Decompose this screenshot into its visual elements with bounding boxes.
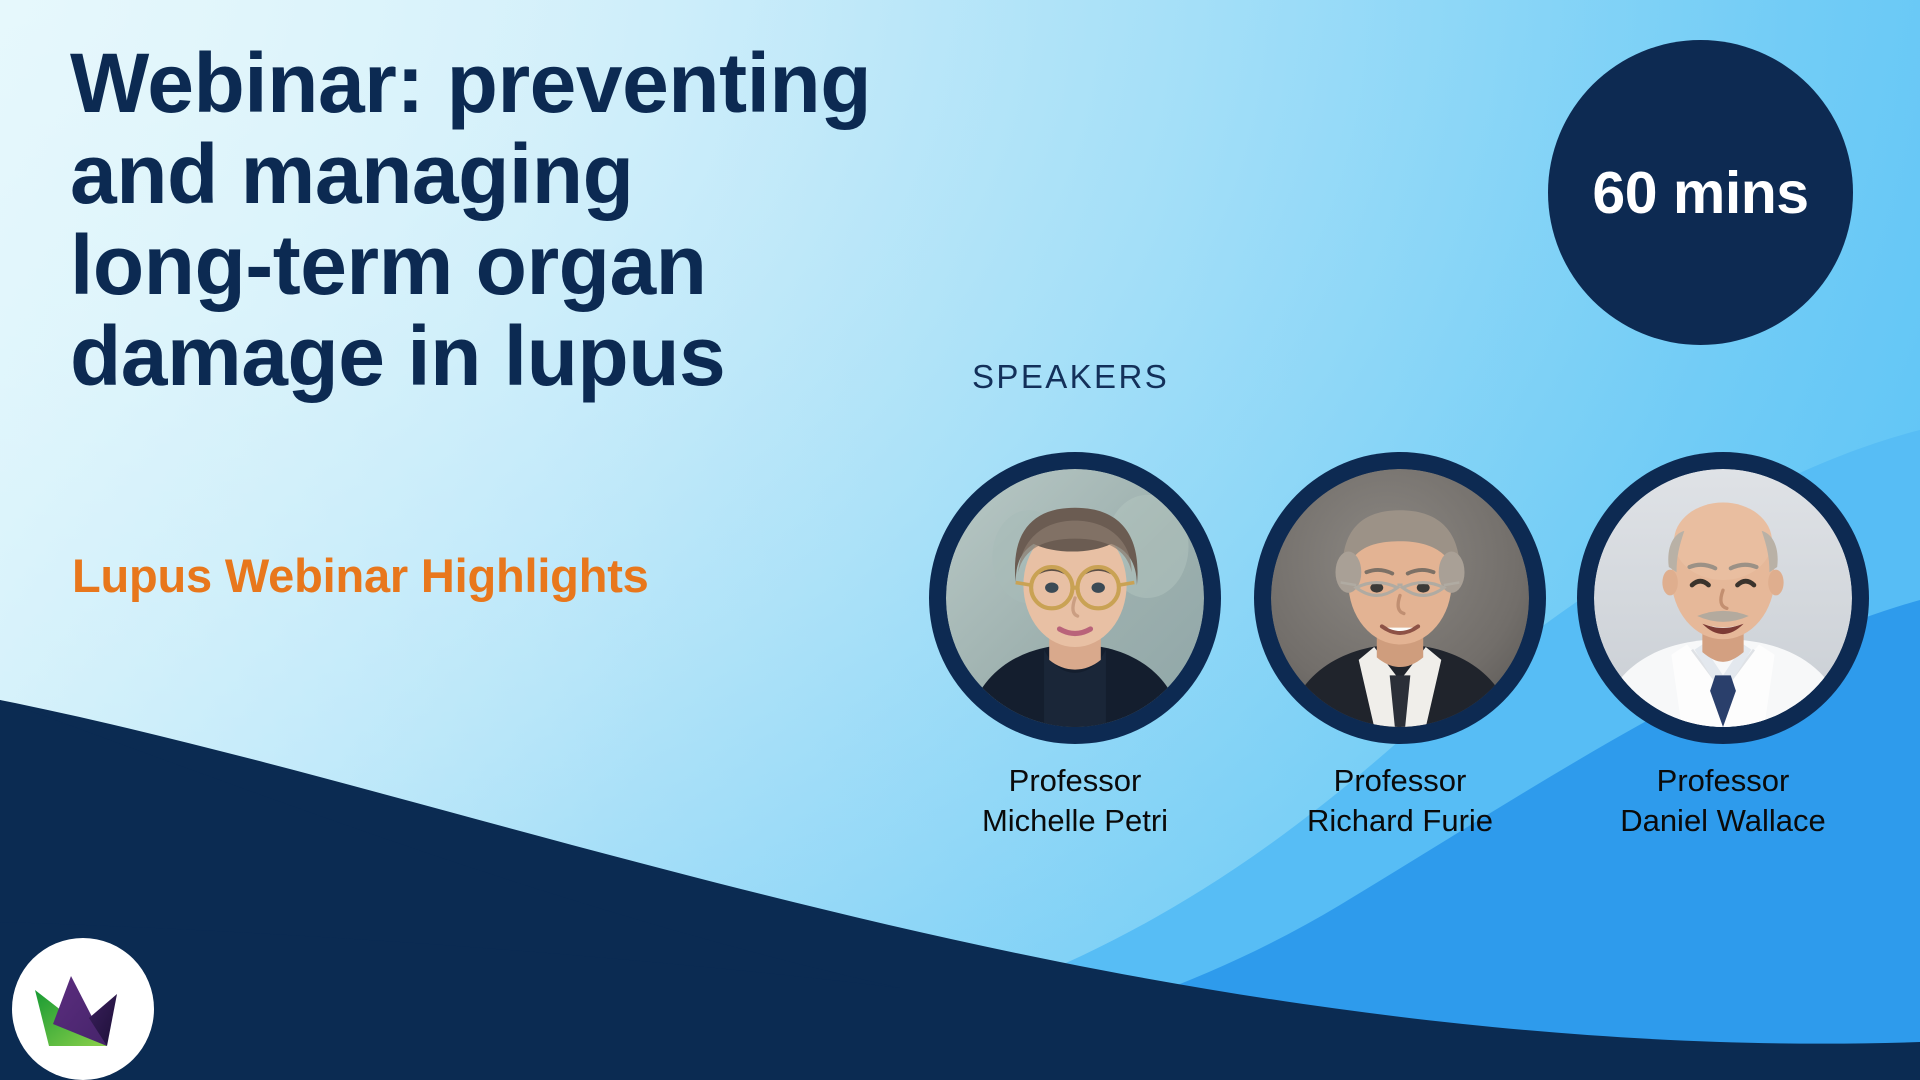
speaker-name-3: Professor Daniel Wallace	[1573, 761, 1873, 840]
brand-logo[interactable]	[12, 938, 154, 1080]
speaker-card-1: Professor Michelle Petri	[925, 452, 1225, 840]
speaker-name-2: Professor Richard Furie	[1250, 761, 1550, 840]
speaker-card-3: Professor Daniel Wallace	[1573, 452, 1873, 840]
speakers-heading: SPEAKERS	[972, 358, 1169, 396]
avatar-richard-furie	[1271, 469, 1529, 727]
avatar-daniel-wallace	[1594, 469, 1852, 727]
speaker-avatar-ring-3	[1577, 452, 1869, 744]
page-title: Webinar: preventing and managing long-te…	[70, 38, 990, 403]
duration-badge-label: 60 mins	[1592, 159, 1808, 227]
duration-badge: 60 mins	[1548, 40, 1853, 345]
speaker-card-2: Professor Richard Furie	[1250, 452, 1550, 840]
page-subtitle: Lupus Webinar Highlights	[72, 548, 649, 603]
avatar-michelle-petri	[946, 469, 1204, 727]
speaker-avatar-ring-2	[1254, 452, 1546, 744]
crown-icon	[31, 968, 135, 1050]
speaker-name-1: Professor Michelle Petri	[925, 761, 1225, 840]
banner-canvas: Webinar: preventing and managing long-te…	[0, 0, 1920, 1080]
speaker-avatar-ring-1	[929, 452, 1221, 744]
